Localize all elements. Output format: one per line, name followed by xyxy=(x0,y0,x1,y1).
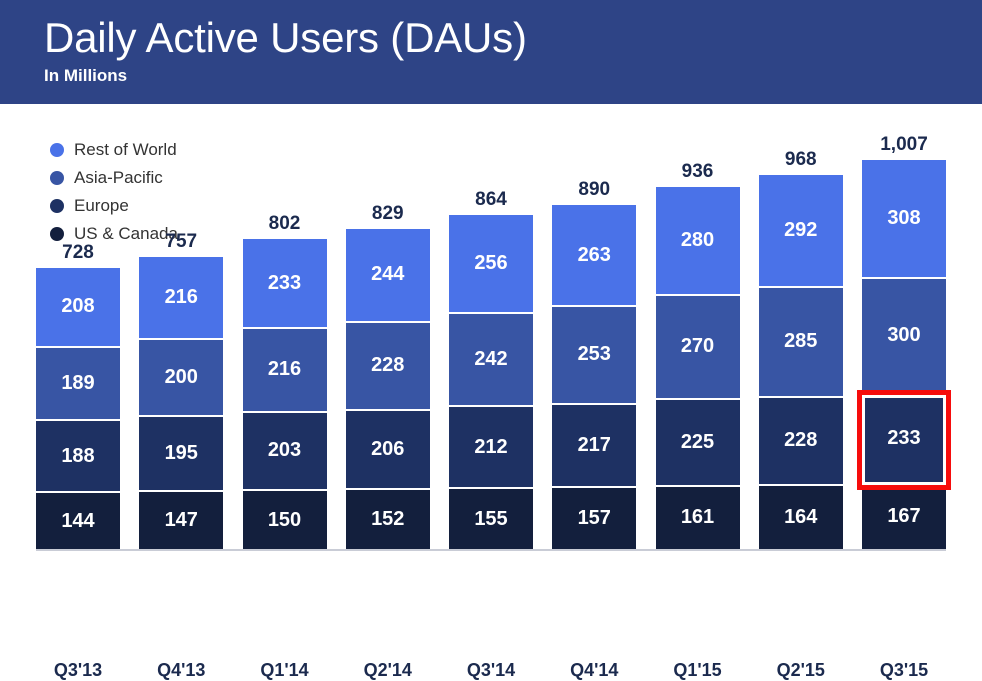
bar-segment[interactable]: 228 xyxy=(759,398,843,486)
bar-segment[interactable]: 203 xyxy=(243,413,327,491)
bar-segment-label: 228 xyxy=(371,354,404,377)
bar-segment-label: 167 xyxy=(887,505,920,528)
bar-segment-label: 200 xyxy=(165,366,198,389)
bar-segment-label: 300 xyxy=(887,324,920,347)
bar-segment[interactable]: 167 xyxy=(862,485,946,549)
bar-segment-label: 155 xyxy=(474,508,507,531)
bar-stack: 292285228164 xyxy=(759,175,843,549)
bar-segment-label: 217 xyxy=(578,434,611,457)
bar-series-container: 7282081891881447572162001951478022332162… xyxy=(36,134,946,549)
bar-segment[interactable]: 244 xyxy=(346,229,430,323)
bar-total-label: 1,007 xyxy=(862,134,946,156)
bar-total-label: 864 xyxy=(449,189,533,211)
bar-total-label: 802 xyxy=(243,213,327,235)
bar-segment[interactable]: 152 xyxy=(346,490,430,549)
bar-segment[interactable]: 256 xyxy=(449,215,533,314)
bar-segment[interactable]: 164 xyxy=(759,486,843,549)
bar-segment-label: 212 xyxy=(474,436,507,459)
bar-segment-label: 157 xyxy=(578,507,611,530)
bar-segment-label: 216 xyxy=(165,286,198,309)
bar-segment-label: 280 xyxy=(681,229,714,252)
bar-total-label: 936 xyxy=(656,161,740,183)
bar-total-label: 968 xyxy=(759,149,843,171)
bar-segment[interactable]: 216 xyxy=(243,329,327,412)
chart-subtitle: In Millions xyxy=(44,65,982,87)
bar-segment[interactable]: 216 xyxy=(139,257,223,340)
bar-group[interactable]: 728208189188144 xyxy=(36,134,120,549)
bar-segment[interactable]: 206 xyxy=(346,411,430,490)
bar-segment[interactable]: 270 xyxy=(656,296,740,400)
bar-segment-label: 147 xyxy=(165,509,198,532)
bar-group[interactable]: 890263253217157 xyxy=(552,134,636,549)
bar-segment[interactable]: 189 xyxy=(36,348,120,421)
bar-segment[interactable]: 228 xyxy=(346,323,430,411)
bar-segment[interactable]: 225 xyxy=(656,400,740,487)
bar-segment[interactable]: 157 xyxy=(552,488,636,549)
bar-segment[interactable]: 300 xyxy=(862,279,946,395)
x-axis-tick-label: Q4'14 xyxy=(552,660,636,681)
bar-segment[interactable]: 233 xyxy=(862,395,946,485)
bar-segment[interactable]: 263 xyxy=(552,205,636,307)
bar-stack: 244228206152 xyxy=(346,229,430,549)
bar-segment-label: 228 xyxy=(784,429,817,452)
bar-segment[interactable]: 280 xyxy=(656,187,740,295)
bar-segment-label: 189 xyxy=(61,372,94,395)
bar-stack: 233216203150 xyxy=(243,239,327,549)
bar-stack: 280270225161 xyxy=(656,187,740,549)
bar-segment-label: 233 xyxy=(268,272,301,295)
bar-group[interactable]: 802233216203150 xyxy=(243,134,327,549)
bar-segment-label: 256 xyxy=(474,252,507,275)
bar-segment-label: 233 xyxy=(887,427,920,450)
bar-segment[interactable]: 212 xyxy=(449,407,533,489)
bar-segment-label: 208 xyxy=(61,295,94,318)
bar-group[interactable]: 757216200195147 xyxy=(139,134,223,549)
x-axis-tick-label: Q4'13 xyxy=(139,660,223,681)
header-band: Daily Active Users (DAUs) In Millions xyxy=(0,0,982,104)
bar-group[interactable]: 864256242212155 xyxy=(449,134,533,549)
bar-segment[interactable]: 208 xyxy=(36,268,120,348)
bar-stack: 308300233167 xyxy=(862,160,946,549)
bar-segment[interactable]: 155 xyxy=(449,489,533,549)
chart-title: Daily Active Users (DAUs) xyxy=(44,12,982,64)
bar-segment-label: 270 xyxy=(681,335,714,358)
bar-segment-label: 216 xyxy=(268,358,301,381)
bar-segment[interactable]: 253 xyxy=(552,307,636,405)
bar-segment-label: 150 xyxy=(268,509,301,532)
bar-segment-label: 242 xyxy=(474,348,507,371)
bar-segment-label: 244 xyxy=(371,263,404,286)
x-axis-tick-label: Q3'13 xyxy=(36,660,120,681)
bar-segment[interactable]: 308 xyxy=(862,160,946,279)
x-axis-tick-label: Q3'14 xyxy=(449,660,533,681)
bar-stack: 208189188144 xyxy=(36,268,120,549)
bar-segment-label: 263 xyxy=(578,244,611,267)
bar-segment-label: 144 xyxy=(61,510,94,533)
bar-segment-label: 292 xyxy=(784,219,817,242)
bar-segment[interactable]: 161 xyxy=(656,487,740,549)
bar-segment[interactable]: 242 xyxy=(449,314,533,407)
x-axis-tick-label: Q2'14 xyxy=(346,660,430,681)
bar-total-label: 890 xyxy=(552,179,636,201)
bar-segment-label: 206 xyxy=(371,438,404,461)
bar-segment[interactable]: 144 xyxy=(36,493,120,549)
bar-segment-label: 253 xyxy=(578,343,611,366)
bar-stack: 216200195147 xyxy=(139,257,223,549)
bar-segment[interactable]: 200 xyxy=(139,340,223,417)
bar-segment[interactable]: 147 xyxy=(139,492,223,549)
x-axis-tick-labels: Q3'13Q4'13Q1'14Q2'14Q3'14Q4'14Q1'15Q2'15… xyxy=(36,660,946,681)
x-axis-tick-label: Q2'15 xyxy=(759,660,843,681)
chart-plot-area: 7282081891881447572162001951478022332162… xyxy=(0,104,982,592)
bar-segment-label: 161 xyxy=(681,506,714,529)
bar-segment-label: 203 xyxy=(268,439,301,462)
bar-segment-label: 308 xyxy=(887,207,920,230)
bar-segment-label: 225 xyxy=(681,431,714,454)
bar-segment-label: 164 xyxy=(784,506,817,529)
bar-segment-label: 152 xyxy=(371,508,404,531)
bar-group[interactable]: 968292285228164 xyxy=(759,134,843,549)
bar-segment-label: 188 xyxy=(61,445,94,468)
x-axis-tick-label: Q1'14 xyxy=(243,660,327,681)
bar-group[interactable]: 1,007308300233167 xyxy=(862,134,946,549)
bar-segment[interactable]: 292 xyxy=(759,175,843,288)
x-axis-tick-label: Q1'15 xyxy=(656,660,740,681)
bar-segment[interactable]: 217 xyxy=(552,405,636,489)
bar-segment[interactable]: 233 xyxy=(243,239,327,329)
bar-segment[interactable]: 188 xyxy=(36,421,120,494)
x-axis-line xyxy=(36,549,946,551)
bar-group[interactable]: 829244228206152 xyxy=(346,134,430,549)
bar-total-label: 829 xyxy=(346,203,430,225)
bar-stack: 256242212155 xyxy=(449,215,533,549)
bar-segment-label: 285 xyxy=(784,330,817,353)
bar-segment[interactable]: 285 xyxy=(759,288,843,398)
bar-segment-label: 195 xyxy=(165,442,198,465)
bar-segment[interactable]: 150 xyxy=(243,491,327,549)
bar-stack: 263253217157 xyxy=(552,205,636,549)
bar-segment[interactable]: 195 xyxy=(139,417,223,492)
x-axis-tick-label: Q3'15 xyxy=(862,660,946,681)
bar-total-label: 728 xyxy=(36,242,120,264)
bar-group[interactable]: 936280270225161 xyxy=(656,134,740,549)
bar-total-label: 757 xyxy=(139,231,223,253)
